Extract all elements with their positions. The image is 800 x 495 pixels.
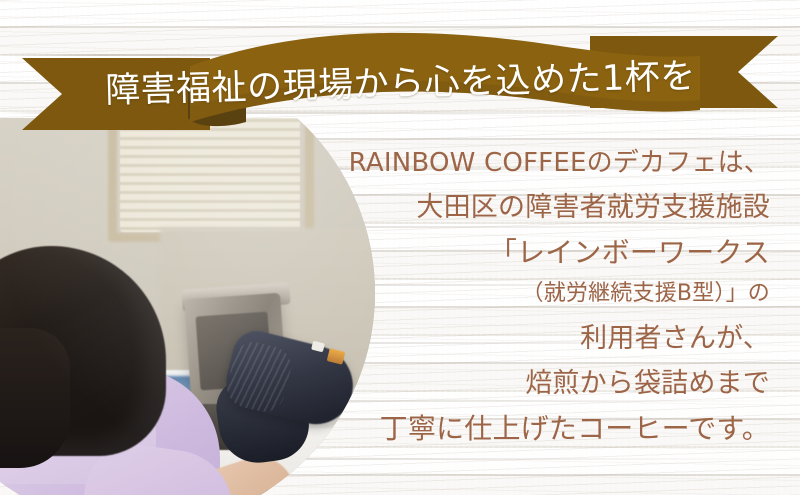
description-line-1: RAINBOW COFFEEのデカフェは、 — [300, 150, 770, 176]
photo-person-hair-back — [0, 328, 70, 468]
ribbon-banner — [0, 18, 800, 140]
promo-banner: 障害福祉の現場から心を込めた1杯を RAINBOW COFFEEのデカフェは、 … — [0, 0, 800, 495]
description-line-2: 大田区の障害者就労支援施設 — [300, 194, 770, 221]
description-line-5: 利用者さんが、 — [300, 325, 770, 352]
ribbon-tail-left — [22, 58, 210, 130]
description-block: RAINBOW COFFEEのデカフェは、 大田区の障害者就労支援施設 「レイン… — [300, 150, 770, 443]
description-line-4: （就労継続支援B型）」の — [300, 283, 770, 305]
description-line-3: 「レインボーワークス — [300, 239, 770, 267]
description-line-6: 焙煎から袋詰めまで — [300, 370, 770, 397]
description-line-7: 丁寧に仕上げたコーヒーです。 — [300, 415, 770, 443]
